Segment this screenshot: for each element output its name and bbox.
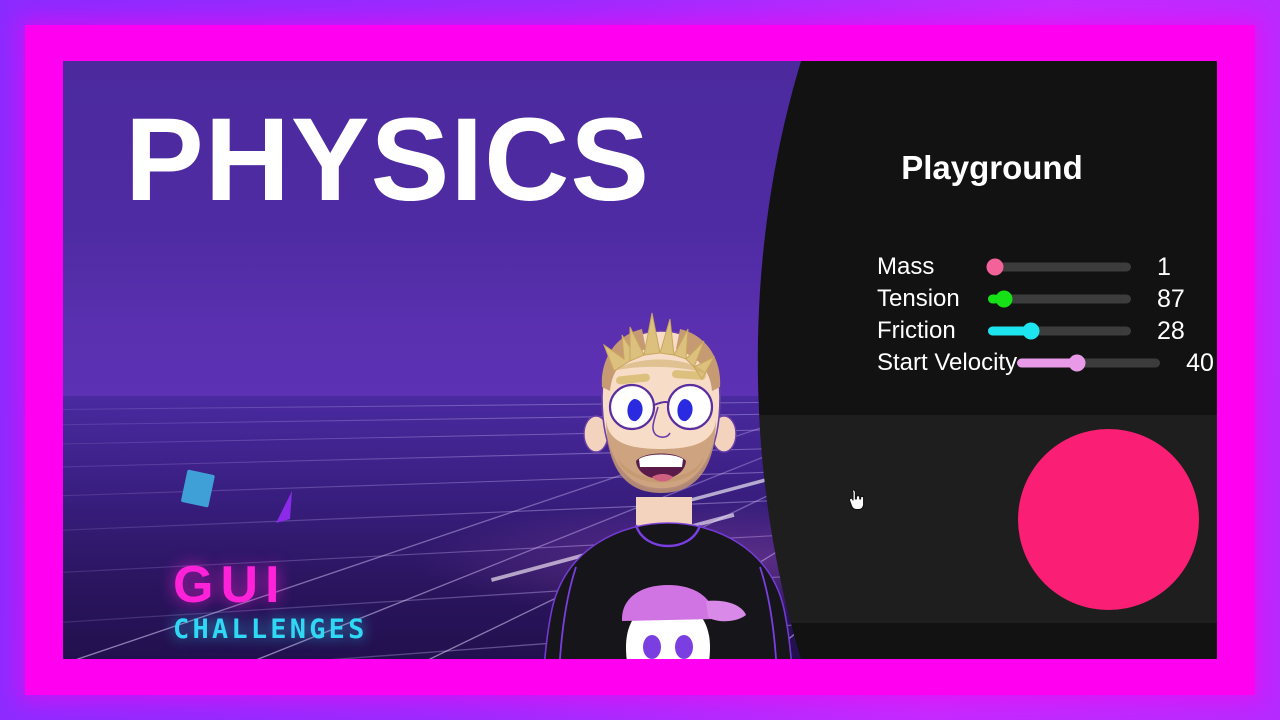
control-label-mass: Mass	[877, 253, 988, 281]
control-label-start-velocity: Start Velocity	[877, 349, 1017, 377]
control-label-tension: Tension	[877, 285, 988, 313]
control-row-tension: Tension 87	[877, 283, 1201, 315]
logo-secondary-text: CHALLENGES	[173, 614, 368, 645]
slider-thumb[interactable]	[995, 291, 1012, 308]
slider-tension[interactable]	[988, 288, 1131, 310]
draggable-ball[interactable]	[1018, 429, 1199, 610]
control-label-friction: Friction	[877, 317, 988, 345]
slider-thumb[interactable]	[1069, 355, 1086, 372]
outer-frame: PHYSICS GUI CHALLENGES	[0, 0, 1280, 720]
slider-thumb[interactable]	[987, 259, 1004, 276]
gui-challenges-logo: GUI CHALLENGES	[173, 561, 368, 645]
slider-friction[interactable]	[988, 320, 1131, 342]
control-row-start-velocity: Start Velocity 40	[877, 347, 1201, 379]
shape-purple-triangle	[270, 489, 302, 529]
logo-primary-text: GUI	[173, 561, 368, 610]
control-value-start-velocity: 40	[1186, 349, 1217, 378]
control-row-friction: Friction 28	[877, 315, 1201, 347]
control-value-tension: 87	[1157, 285, 1201, 314]
slider-track	[988, 263, 1131, 272]
slider-fill	[1017, 359, 1074, 368]
slider-thumb[interactable]	[1022, 323, 1039, 340]
control-value-friction: 28	[1157, 317, 1201, 346]
presentation-stage: PHYSICS GUI CHALLENGES	[63, 61, 1217, 659]
controls-list: Mass 1 Tension	[877, 251, 1201, 379]
page-title: PHYSICS	[125, 101, 650, 219]
control-row-mass: Mass 1	[877, 251, 1201, 283]
magenta-frame-border: PHYSICS GUI CHALLENGES	[25, 25, 1255, 695]
slider-mass[interactable]	[988, 256, 1131, 278]
hand-pointer-cursor	[846, 488, 866, 512]
shape-blue-square	[181, 469, 221, 513]
slider-start-velocity[interactable]	[1017, 352, 1160, 374]
control-value-mass: 1	[1157, 253, 1201, 282]
